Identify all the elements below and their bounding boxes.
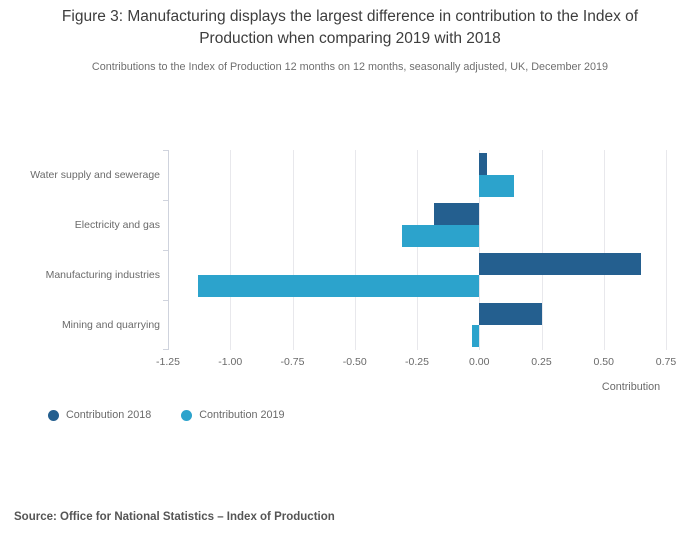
gridline--0.25 <box>417 150 418 350</box>
bar <box>472 325 479 347</box>
x-axis-tick-labels: -1.25-1.00-0.75-0.50-0.250.000.250.500.7… <box>0 356 700 376</box>
bar <box>198 275 479 297</box>
x-axis-tick-label: -0.25 <box>382 356 452 368</box>
source-note: Source: Office for National Statistics –… <box>14 511 335 523</box>
y-axis-tick-labels: Water supply and sewerageElectricity and… <box>8 150 160 350</box>
gridline--0.75 <box>293 150 294 350</box>
chart-subtitle: Contributions to the Index of Production… <box>0 60 700 74</box>
bar <box>434 203 479 225</box>
x-axis-tick-label: 0.25 <box>507 356 577 368</box>
gridline-0.75 <box>666 150 667 350</box>
y-axis-tick-label: Manufacturing industries <box>10 269 160 281</box>
gridline-0.25 <box>542 150 543 350</box>
x-axis-tick-label: 0.75 <box>631 356 700 368</box>
y-axis-tick <box>163 200 169 201</box>
x-axis-title: Contribution <box>566 381 696 393</box>
y-axis <box>168 150 169 350</box>
x-axis-tick-label: -1.25 <box>133 356 203 368</box>
x-axis-tick-label: -0.50 <box>320 356 390 368</box>
x-axis-tick-label: -1.00 <box>195 356 265 368</box>
legend-label: Contribution 2019 <box>199 409 284 421</box>
y-axis-tick <box>163 250 169 251</box>
y-axis-tick-label: Electricity and gas <box>10 219 160 231</box>
figure-container: Figure 3: Manufacturing displays the lar… <box>0 0 700 549</box>
chart-title: Figure 3: Manufacturing displays the lar… <box>0 6 700 50</box>
plot-area <box>168 150 666 350</box>
gridline--1.00 <box>230 150 231 350</box>
x-axis-tick-label: 0.00 <box>444 356 514 368</box>
y-axis-tick-label: Mining and quarrying <box>10 319 160 331</box>
legend-label: Contribution 2018 <box>66 409 151 421</box>
legend-item-1[interactable]: Contribution 2018 <box>48 409 151 421</box>
y-axis-tick <box>163 150 169 151</box>
title-block: Figure 3: Manufacturing displays the lar… <box>0 6 700 74</box>
bar <box>479 303 541 325</box>
bar <box>479 253 641 275</box>
legend-swatch-circle-icon <box>48 410 59 421</box>
y-axis-tick <box>163 349 169 350</box>
gridline-0.50 <box>604 150 605 350</box>
y-axis-tick-label: Water supply and sewerage <box>10 169 160 181</box>
y-axis-tick <box>163 300 169 301</box>
x-axis-tick-label: 0.50 <box>569 356 639 368</box>
legend-swatch-circle-icon <box>181 410 192 421</box>
x-axis-tick-label: -0.75 <box>258 356 328 368</box>
bar <box>402 225 479 247</box>
legend-item-2[interactable]: Contribution 2019 <box>181 409 284 421</box>
gridline--0.50 <box>355 150 356 350</box>
bar <box>479 175 514 197</box>
legend: Contribution 2018Contribution 2019 <box>48 409 285 421</box>
bar <box>479 153 486 175</box>
